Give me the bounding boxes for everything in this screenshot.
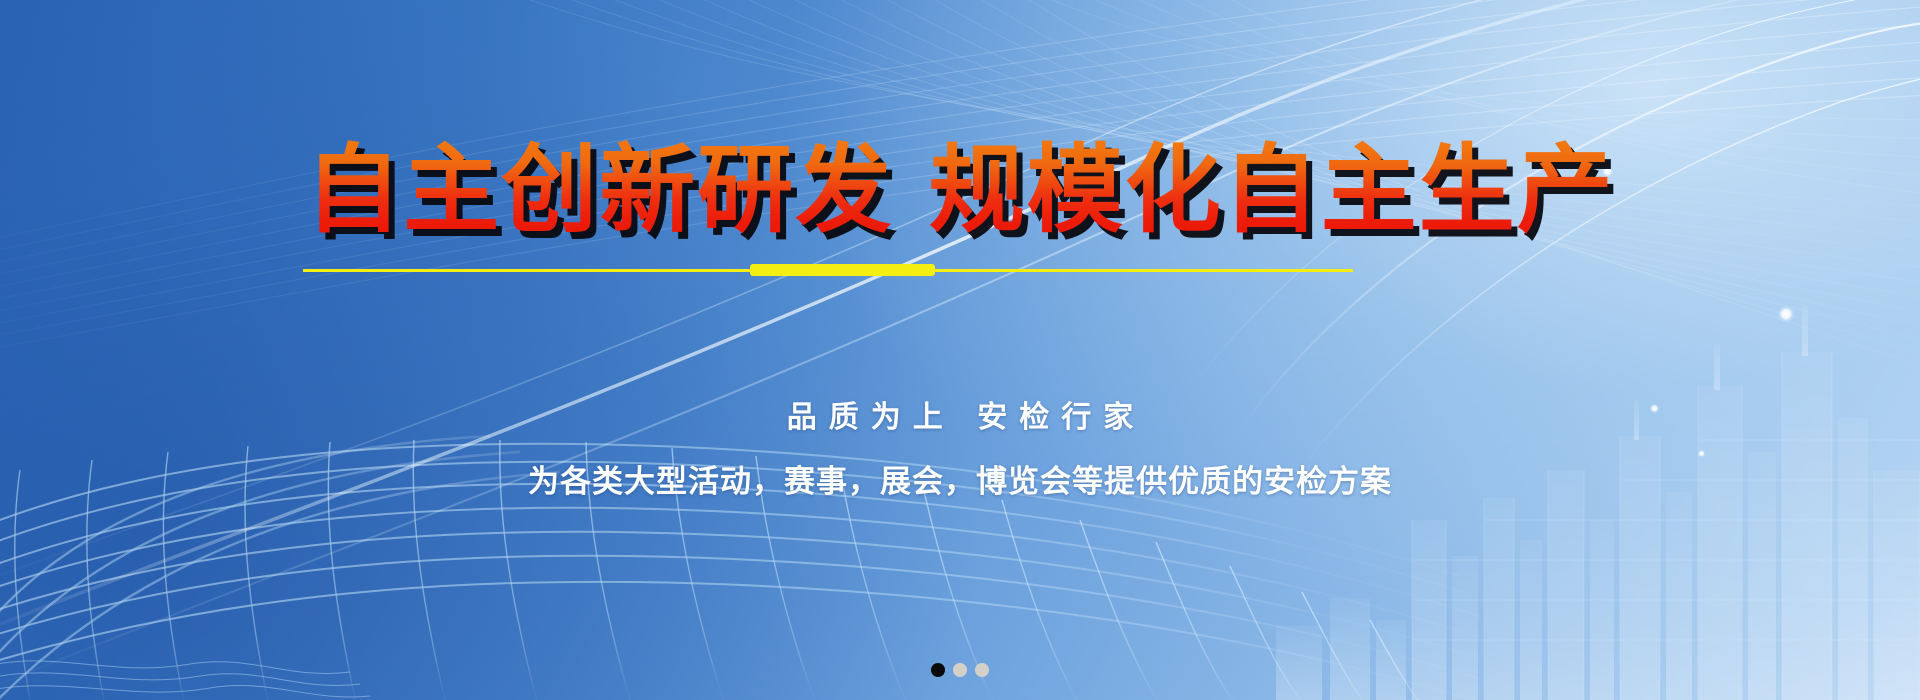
subtitle-secondary: 为各类大型活动，赛事，展会，博览会等提供优质的安检方案 <box>0 456 1920 501</box>
carousel-dot-1[interactable] <box>931 663 945 677</box>
banner-content: 自主创新研发 规模化自主生产 品质为上 安检行家 为各类大型活动，赛事，展会，博… <box>0 0 1920 700</box>
headline-text: 自主创新研发 规模化自主生产 <box>299 134 1620 246</box>
carousel-dot-2[interactable] <box>953 663 967 677</box>
carousel-dots[interactable] <box>0 663 1920 677</box>
yellow-divider <box>303 268 1353 272</box>
page-title: 自主创新研发 规模化自主生产 <box>0 142 1920 238</box>
divider-thick-segment <box>750 264 935 276</box>
carousel-dot-3[interactable] <box>975 663 989 677</box>
subtitle-primary: 品质为上 安检行家 <box>0 392 1920 436</box>
hero-banner: 自主创新研发 规模化自主生产 品质为上 安检行家 为各类大型活动，赛事，展会，博… <box>0 0 1920 700</box>
